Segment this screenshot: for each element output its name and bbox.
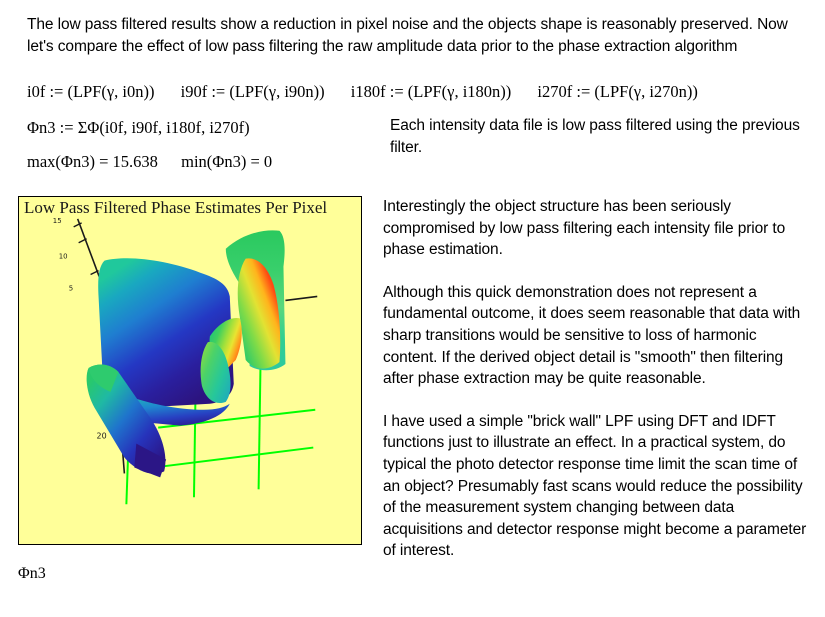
equation-i0f: i0f := (LPF(γ, i0n)) <box>27 82 155 102</box>
equation-max-phi: max(Φn3) = 15.638 <box>27 152 177 172</box>
surface-plot-canvas: 15 10 5 20 <box>19 197 361 544</box>
equation-i270f: i270f := (LPF(γ, i270n)) <box>537 82 698 102</box>
intro-paragraph: The low pass filtered results show a red… <box>27 14 799 57</box>
plot-caption: Φn3 <box>18 565 46 583</box>
commentary-paragraph-3: I have used a simple "brick wall" LPF us… <box>383 411 808 562</box>
plot-title: Low Pass Filtered Phase Estimates Per Pi… <box>24 198 327 218</box>
surface-plot-panel[interactable]: 15 10 5 20 Low Pass <box>18 196 362 545</box>
equation-min-phi: min(Φn3) = 0 <box>181 152 272 171</box>
equation-row-filters: i0f := (LPF(γ, i0n)) i90f := (LPF(γ, i90… <box>27 82 807 102</box>
commentary-paragraph-1: Interestingly the object structure has b… <box>383 196 808 261</box>
filter-note-text: Each intensity data file is low pass fil… <box>390 115 810 158</box>
equation-phi-definition: Φn3 := ΣΦ(i0f, i90f, i180f, i270f) <box>27 118 250 138</box>
equation-row-minmax: max(Φn3) = 15.638 min(Φn3) = 0 <box>27 152 272 172</box>
commentary-paragraph-2: Although this quick demonstration does n… <box>383 282 808 390</box>
svg-text:15: 15 <box>53 217 62 225</box>
equation-i180f: i180f := (LPF(γ, i180n)) <box>351 82 512 102</box>
commentary-column: Interestingly the object structure has b… <box>383 196 808 562</box>
equation-i90f: i90f := (LPF(γ, i90n)) <box>181 82 325 102</box>
svg-text:10: 10 <box>59 253 68 261</box>
svg-text:5: 5 <box>69 284 73 292</box>
plot-tick-label-partial: 20 <box>97 432 107 441</box>
